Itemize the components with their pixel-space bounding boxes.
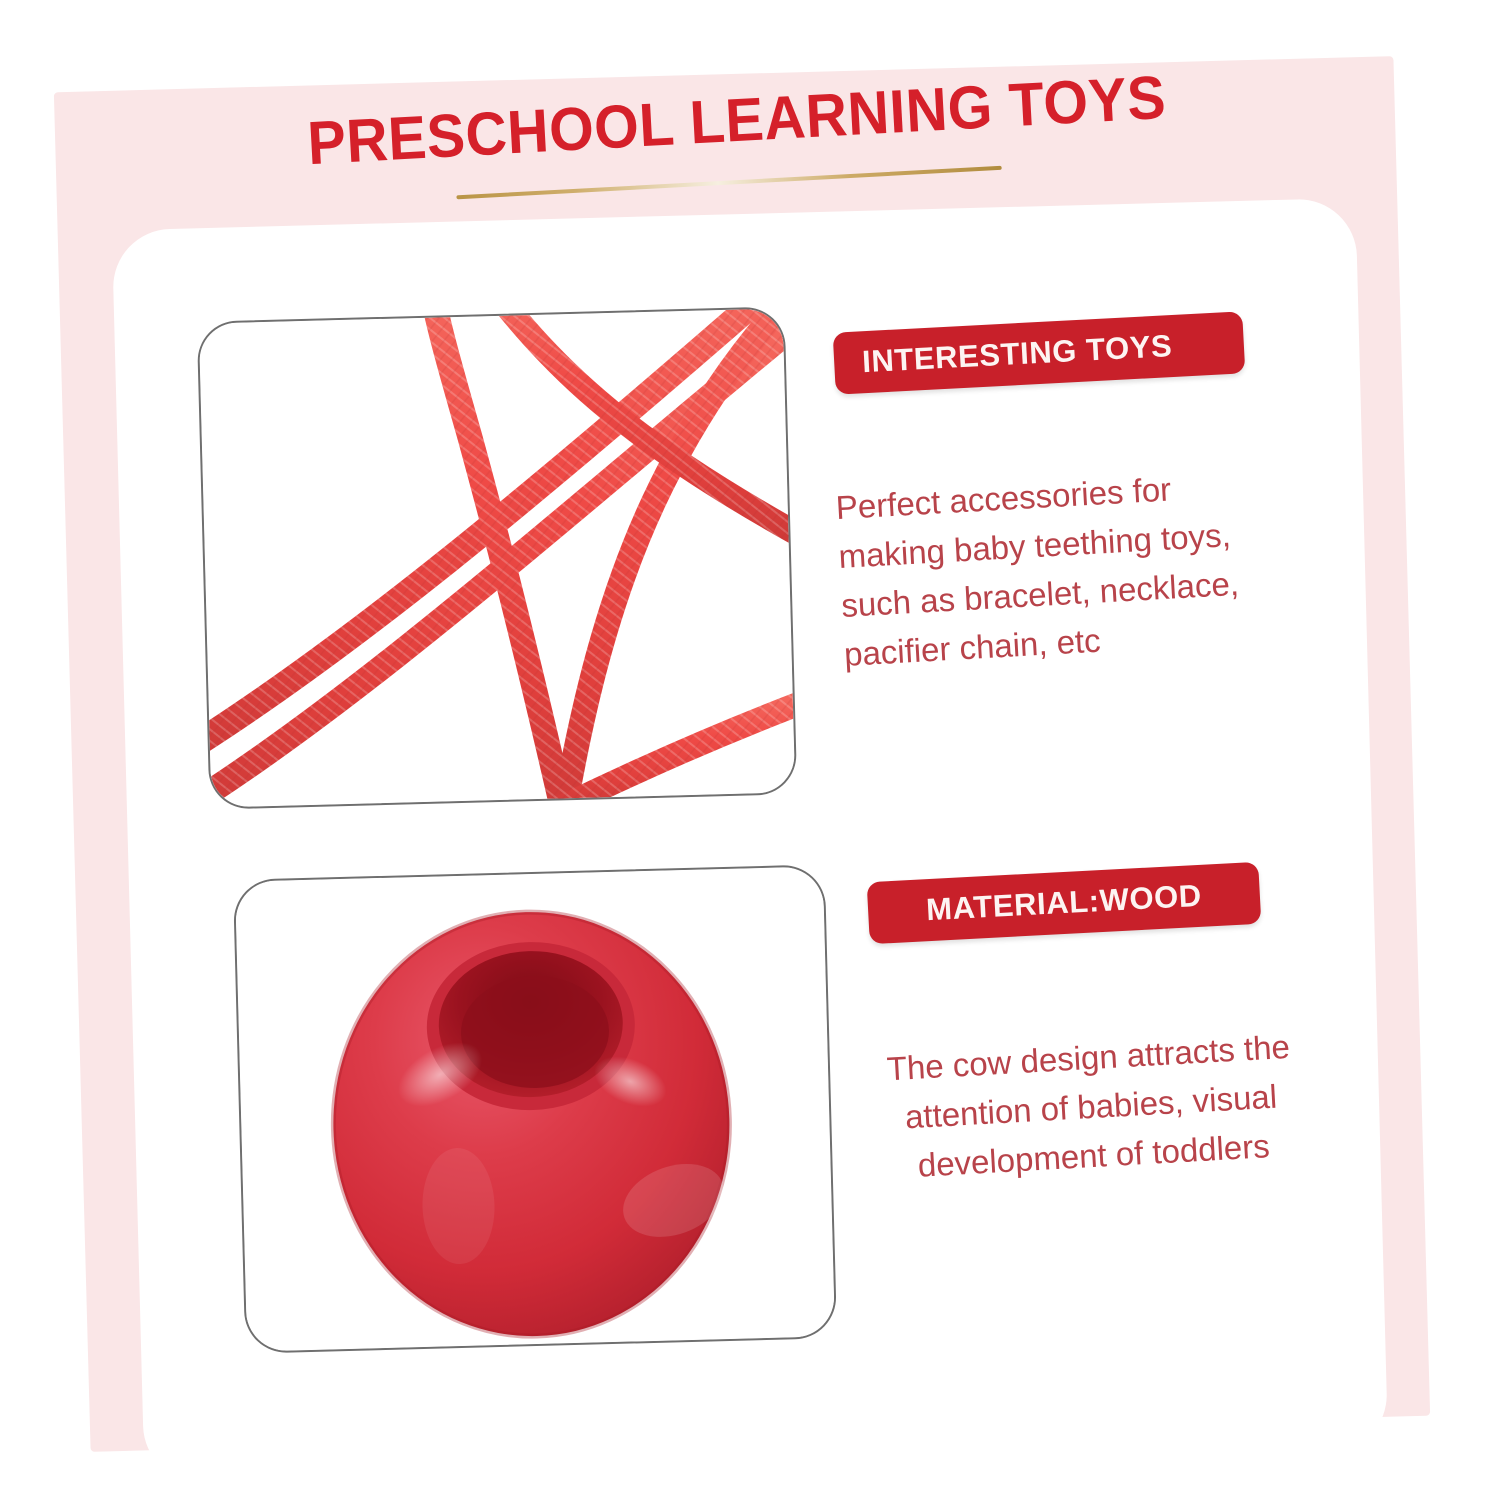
- cord-photo-frame: [197, 306, 798, 809]
- infographic-canvas: PRESCHOOL LEARNING TOYS: [0, 0, 1500, 1500]
- section-one-body-text: Perfect accessories for making baby teet…: [835, 457, 1315, 679]
- section-two-body-text: The cow design attracts the attention of…: [864, 1021, 1318, 1193]
- badge-interesting-toys-label: INTERESTING TOYS: [861, 328, 1173, 380]
- badge-material-wood-label: MATERIAL:WOOD: [925, 878, 1202, 928]
- bead-photo-frame: [233, 864, 837, 1353]
- red-wooden-bead-photo: [235, 866, 835, 1351]
- red-braided-cords-photo: [199, 308, 795, 807]
